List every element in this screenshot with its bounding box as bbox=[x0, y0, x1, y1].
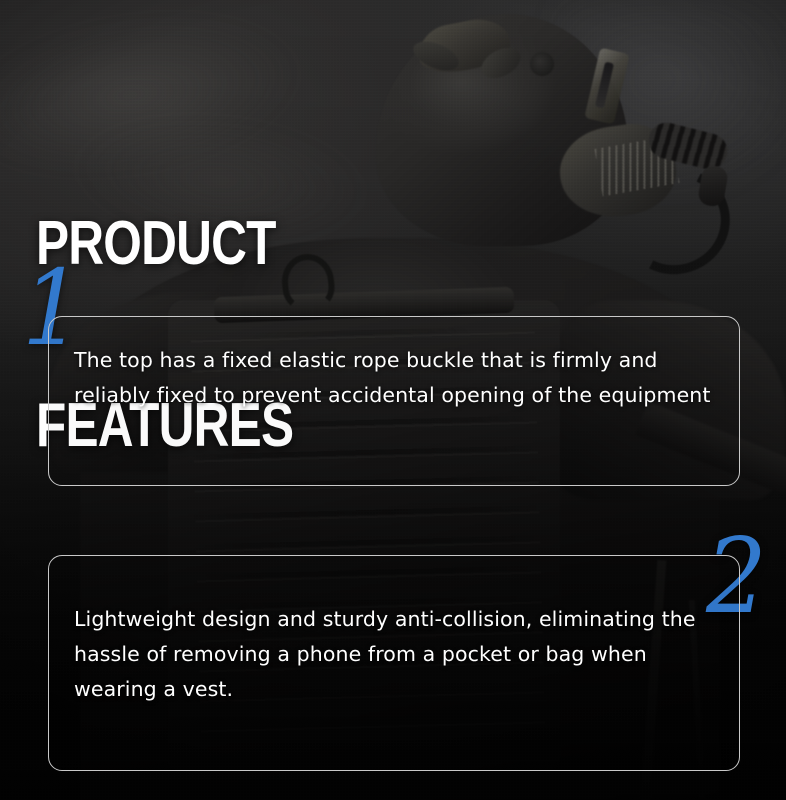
product-features-poster: PRODUCT FEATURES 1 The top has a fixed e… bbox=[0, 0, 786, 800]
feature-text-1: The top has a fixed elastic rope buckle … bbox=[74, 343, 734, 413]
poster-content: PRODUCT FEATURES 1 The top has a fixed e… bbox=[0, 0, 786, 800]
feature-text-2: Lightweight design and sturdy anti-colli… bbox=[74, 602, 724, 707]
feature-card-2: Lightweight design and sturdy anti-colli… bbox=[48, 555, 740, 771]
feature-card-1: The top has a fixed elastic rope buckle … bbox=[48, 316, 740, 486]
